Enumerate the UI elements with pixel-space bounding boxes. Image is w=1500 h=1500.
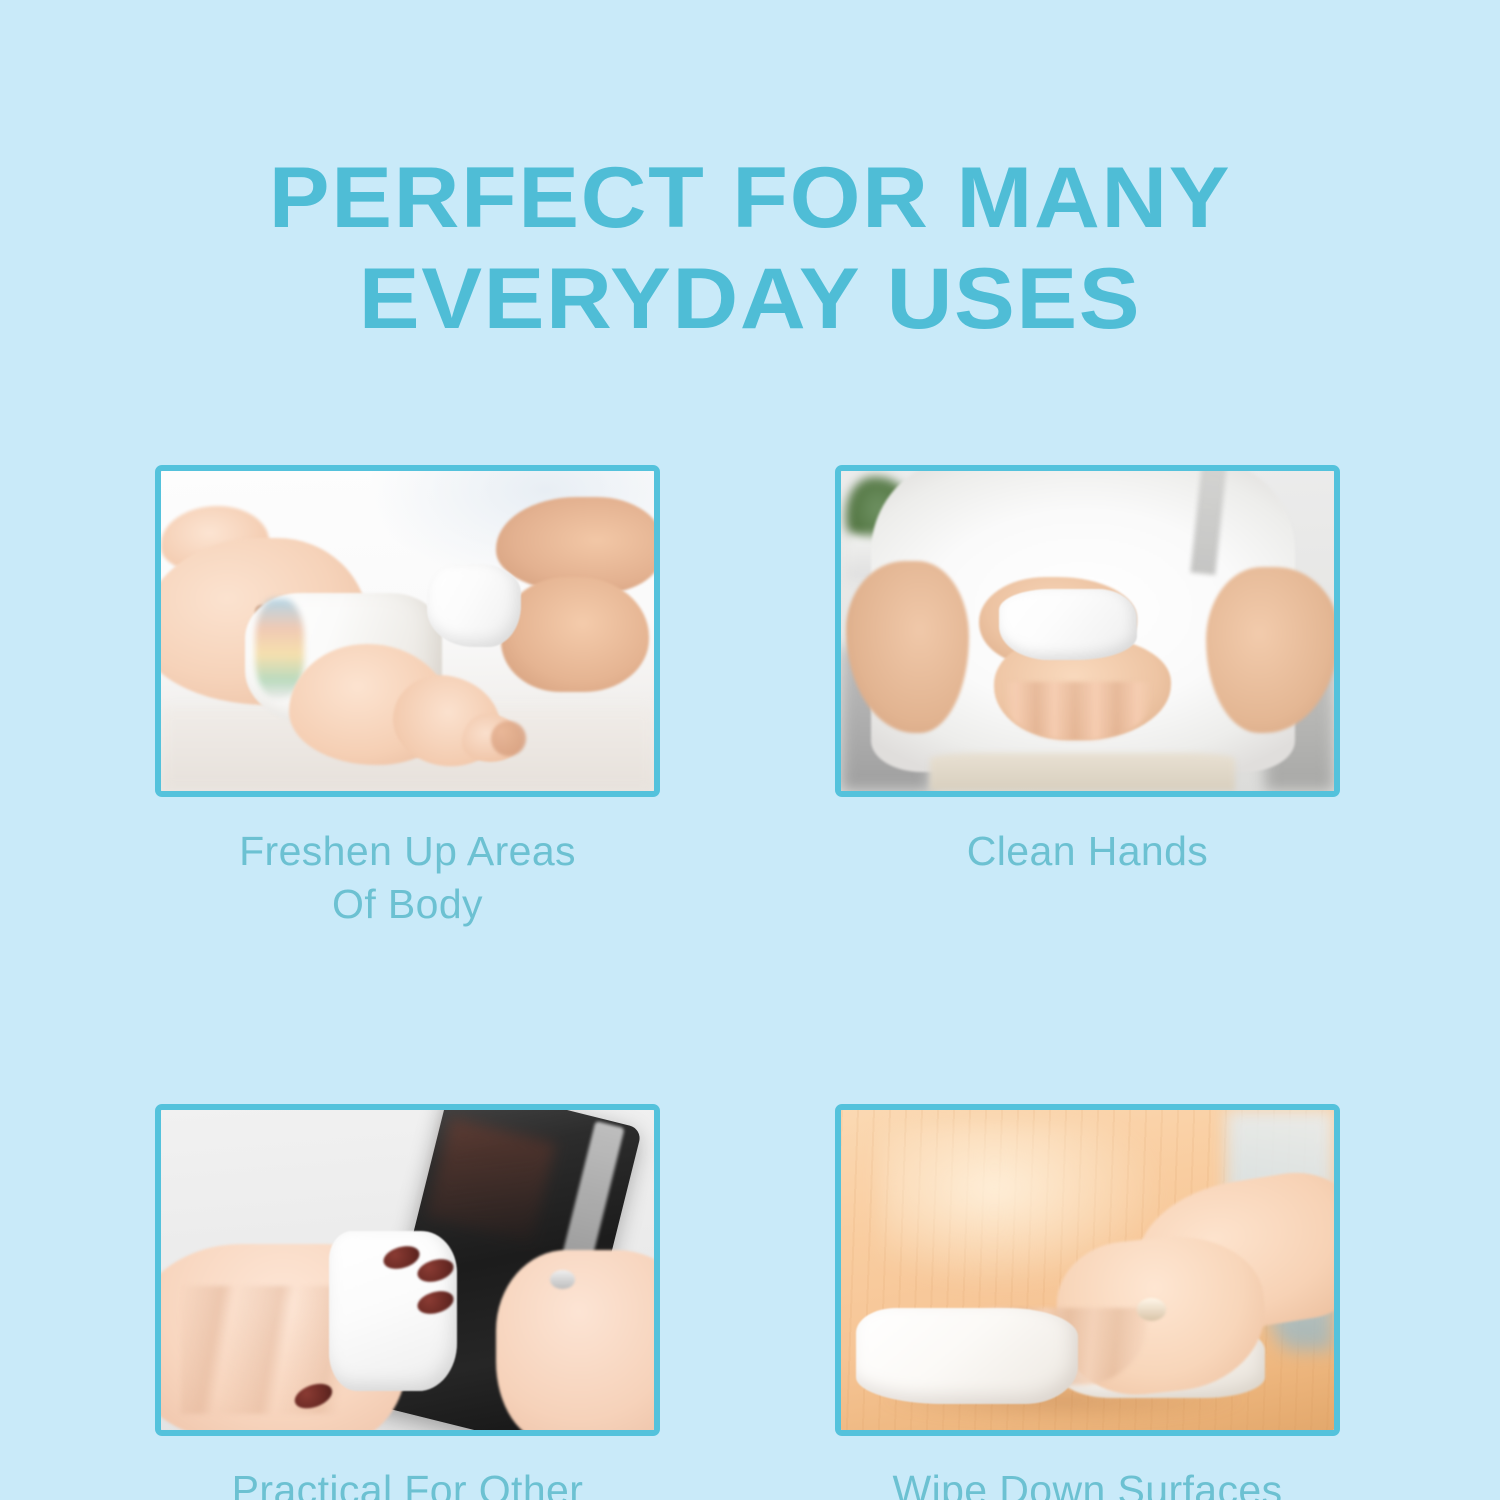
- uses-grid: Freshen Up Areas Of Body: [155, 465, 1340, 1500]
- photo1-wipe: [427, 564, 521, 647]
- use-card-practical-for-other-application: Practical For Other Application: [155, 1104, 660, 1500]
- use-card-freshen-up-areas-of-body: Freshen Up Areas Of Body: [155, 465, 660, 932]
- photo3-ring: [550, 1270, 575, 1289]
- photo1-baby-toes: [491, 721, 526, 756]
- photo3-right-hand: [496, 1250, 654, 1429]
- caption-4: Wipe Down Surfaces: [835, 1464, 1340, 1500]
- caption-4-line-1: Wipe Down Surfaces: [835, 1464, 1340, 1500]
- use-card-clean-hands: Clean Hands: [835, 465, 1340, 932]
- photo2-wipe: [999, 589, 1137, 659]
- photo-frame-1: [155, 465, 660, 797]
- photo4-wipe-left: [856, 1308, 1078, 1404]
- infographic-page: PERFECT FOR MANY EVERYDAY USES: [0, 0, 1500, 1500]
- photo-wipe-surfaces: [841, 1110, 1334, 1430]
- photo-frame-3: [155, 1104, 660, 1436]
- page-title: PERFECT FOR MANY EVERYDAY USES: [0, 148, 1500, 351]
- caption-3-line-1: Practical For Other: [155, 1464, 660, 1500]
- caption-3: Practical For Other Application: [155, 1464, 660, 1500]
- photo-phone-cleaning: [161, 1110, 654, 1430]
- use-card-wipe-down-surfaces: Wipe Down Surfaces: [835, 1104, 1340, 1500]
- photo-frame-2: [835, 465, 1340, 797]
- photo1-adult-hand-lower: [501, 577, 649, 692]
- caption-1: Freshen Up Areas Of Body: [155, 825, 660, 932]
- caption-1-line-1: Freshen Up Areas: [155, 825, 660, 878]
- page-title-line-2: EVERYDAY USES: [0, 249, 1500, 350]
- page-title-line-1: PERFECT FOR MANY: [0, 148, 1500, 249]
- photo-baby-diaper-change: [161, 471, 654, 791]
- caption-2-line-1: Clean Hands: [835, 825, 1340, 878]
- caption-2: Clean Hands: [835, 825, 1340, 878]
- caption-1-line-2: Of Body: [155, 878, 660, 931]
- photo-frame-4: [835, 1104, 1340, 1436]
- photo-clean-hands: [841, 471, 1334, 791]
- photo4-ring: [1137, 1298, 1167, 1320]
- photo2-trousers: [930, 753, 1236, 791]
